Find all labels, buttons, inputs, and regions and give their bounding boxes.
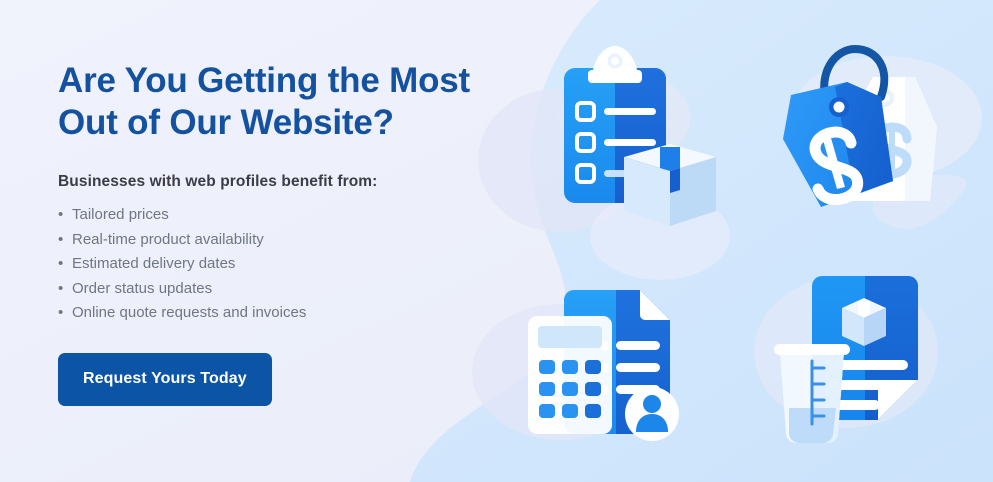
clipboard-checklist-illustration bbox=[520, 40, 740, 240]
request-yours-today-button[interactable]: Request Yours Today bbox=[58, 353, 272, 406]
document-beaker-illustration bbox=[760, 258, 970, 458]
list-item: • Real-time product availability bbox=[58, 228, 528, 253]
box-icon bbox=[842, 298, 886, 346]
list-item: • Estimated delivery dates bbox=[58, 252, 528, 277]
user-avatar-badge bbox=[625, 387, 679, 441]
promo-banner: Are You Getting the Most Out of Our Webs… bbox=[0, 0, 993, 482]
shipping-box-icon bbox=[624, 144, 716, 226]
list-item: • Online quote requests and invoices bbox=[58, 301, 528, 326]
bullet-icon: • bbox=[58, 301, 63, 326]
benefits-list: • Tailored prices • Real-time product av… bbox=[58, 203, 528, 326]
list-item: • Tailored prices bbox=[58, 203, 528, 228]
price-tags-illustration bbox=[755, 35, 970, 240]
list-item-label: Estimated delivery dates bbox=[72, 255, 235, 272]
list-item-label: Real-time product availability bbox=[72, 231, 264, 248]
subheading: Businesses with web profiles benefit fro… bbox=[58, 173, 528, 191]
calculator-keypad bbox=[539, 360, 601, 418]
list-item-label: Order status updates bbox=[72, 280, 212, 297]
list-item-label: Tailored prices bbox=[72, 206, 169, 223]
list-item: • Order status updates bbox=[58, 277, 528, 302]
calculator-icon bbox=[528, 316, 612, 434]
beaker-icon bbox=[774, 344, 850, 443]
bullet-icon: • bbox=[58, 228, 63, 253]
bullet-icon: • bbox=[58, 203, 63, 228]
calculator-invoice-illustration bbox=[512, 268, 712, 458]
banner-content: Are You Getting the Most Out of Our Webs… bbox=[58, 60, 528, 406]
calculator-display bbox=[538, 326, 602, 348]
bullet-icon: • bbox=[58, 277, 63, 302]
bullet-icon: • bbox=[58, 252, 63, 277]
page-title: Are You Getting the Most Out of Our Webs… bbox=[58, 60, 528, 144]
list-item-label: Online quote requests and invoices bbox=[72, 304, 306, 321]
